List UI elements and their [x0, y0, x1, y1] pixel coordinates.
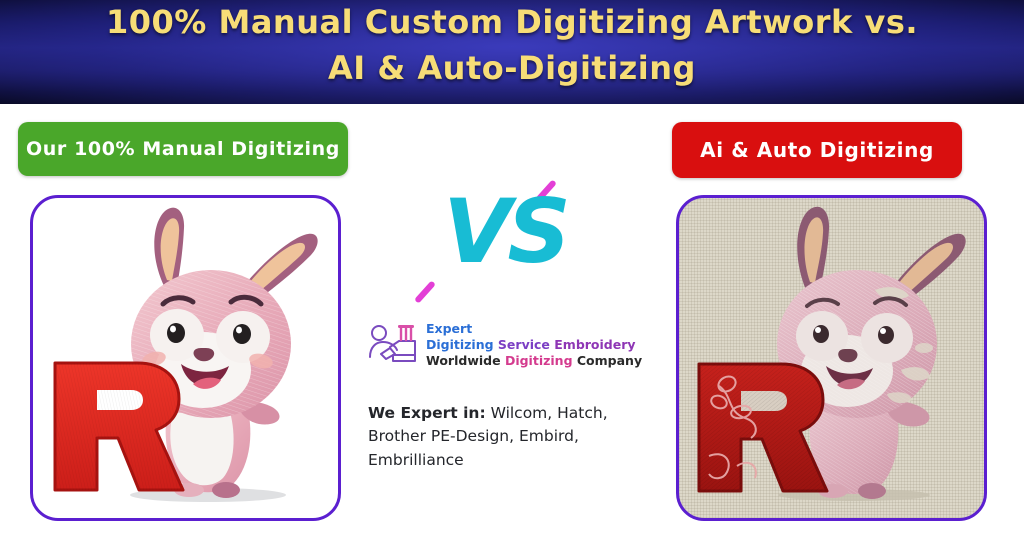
ai-digitizing-sample-frame — [676, 195, 987, 521]
logo-word-digitizing-2: Digitizing — [505, 353, 573, 368]
logo-word-company: Company — [577, 353, 642, 368]
embroidery-machine-operator-icon — [368, 321, 418, 367]
center-column: VS — [350, 164, 660, 538]
embroidered-rabbit-with-letter-r-on-fabric-icon — [679, 198, 984, 518]
expertise-label: We Expert in: — [368, 404, 486, 422]
embroidered-rabbit-with-letter-r-icon — [33, 198, 338, 518]
manual-digitizing-badge-label: Our 100% Manual Digitizing — [26, 138, 340, 160]
page-title-line1: 100% Manual Custom Digitizing Artwork vs… — [0, 0, 1024, 38]
page-title-line2: AI & Auto-Digitizing — [0, 38, 1024, 84]
logo-line-2: Digitizing Service Embroidery — [426, 337, 642, 353]
ai-digitizing-badge: Ai & Auto Digitizing — [672, 122, 962, 178]
logo-line-1: Expert — [426, 321, 642, 337]
logo-word-worldwide: Worldwide — [426, 353, 501, 368]
manual-digitizing-sample-frame — [30, 195, 341, 521]
comparison-body: Our 100% Manual Digitizing Ai & Auto Dig… — [0, 104, 1024, 538]
header-banner: 100% Manual Custom Digitizing Artwork vs… — [0, 0, 1024, 104]
expertise-paragraph: We Expert in: Wilcom, Hatch, Brother PE-… — [368, 402, 640, 472]
comparison-infographic: 100% Manual Custom Digitizing Artwork vs… — [0, 0, 1024, 538]
ai-digitizing-badge-label: Ai & Auto Digitizing — [700, 138, 934, 162]
company-logo-wordmark: Expert Digitizing Service Embroidery Wor… — [426, 321, 642, 368]
logo-word-service: Service — [498, 337, 550, 352]
vs-graphic: VS — [350, 164, 660, 309]
spark-accent-bottom-left-icon — [414, 280, 436, 303]
page-title: 100% Manual Custom Digitizing Artwork vs… — [0, 0, 1024, 84]
logo-word-digitizing: Digitizing — [426, 337, 494, 352]
vs-label: VS — [350, 188, 660, 276]
company-logo: Expert Digitizing Service Embroidery Wor… — [368, 321, 642, 368]
logo-word-embroidery: Embroidery — [554, 337, 635, 352]
manual-digitizing-badge: Our 100% Manual Digitizing — [18, 122, 348, 176]
logo-line-3: Worldwide Digitizing Company — [426, 353, 642, 369]
